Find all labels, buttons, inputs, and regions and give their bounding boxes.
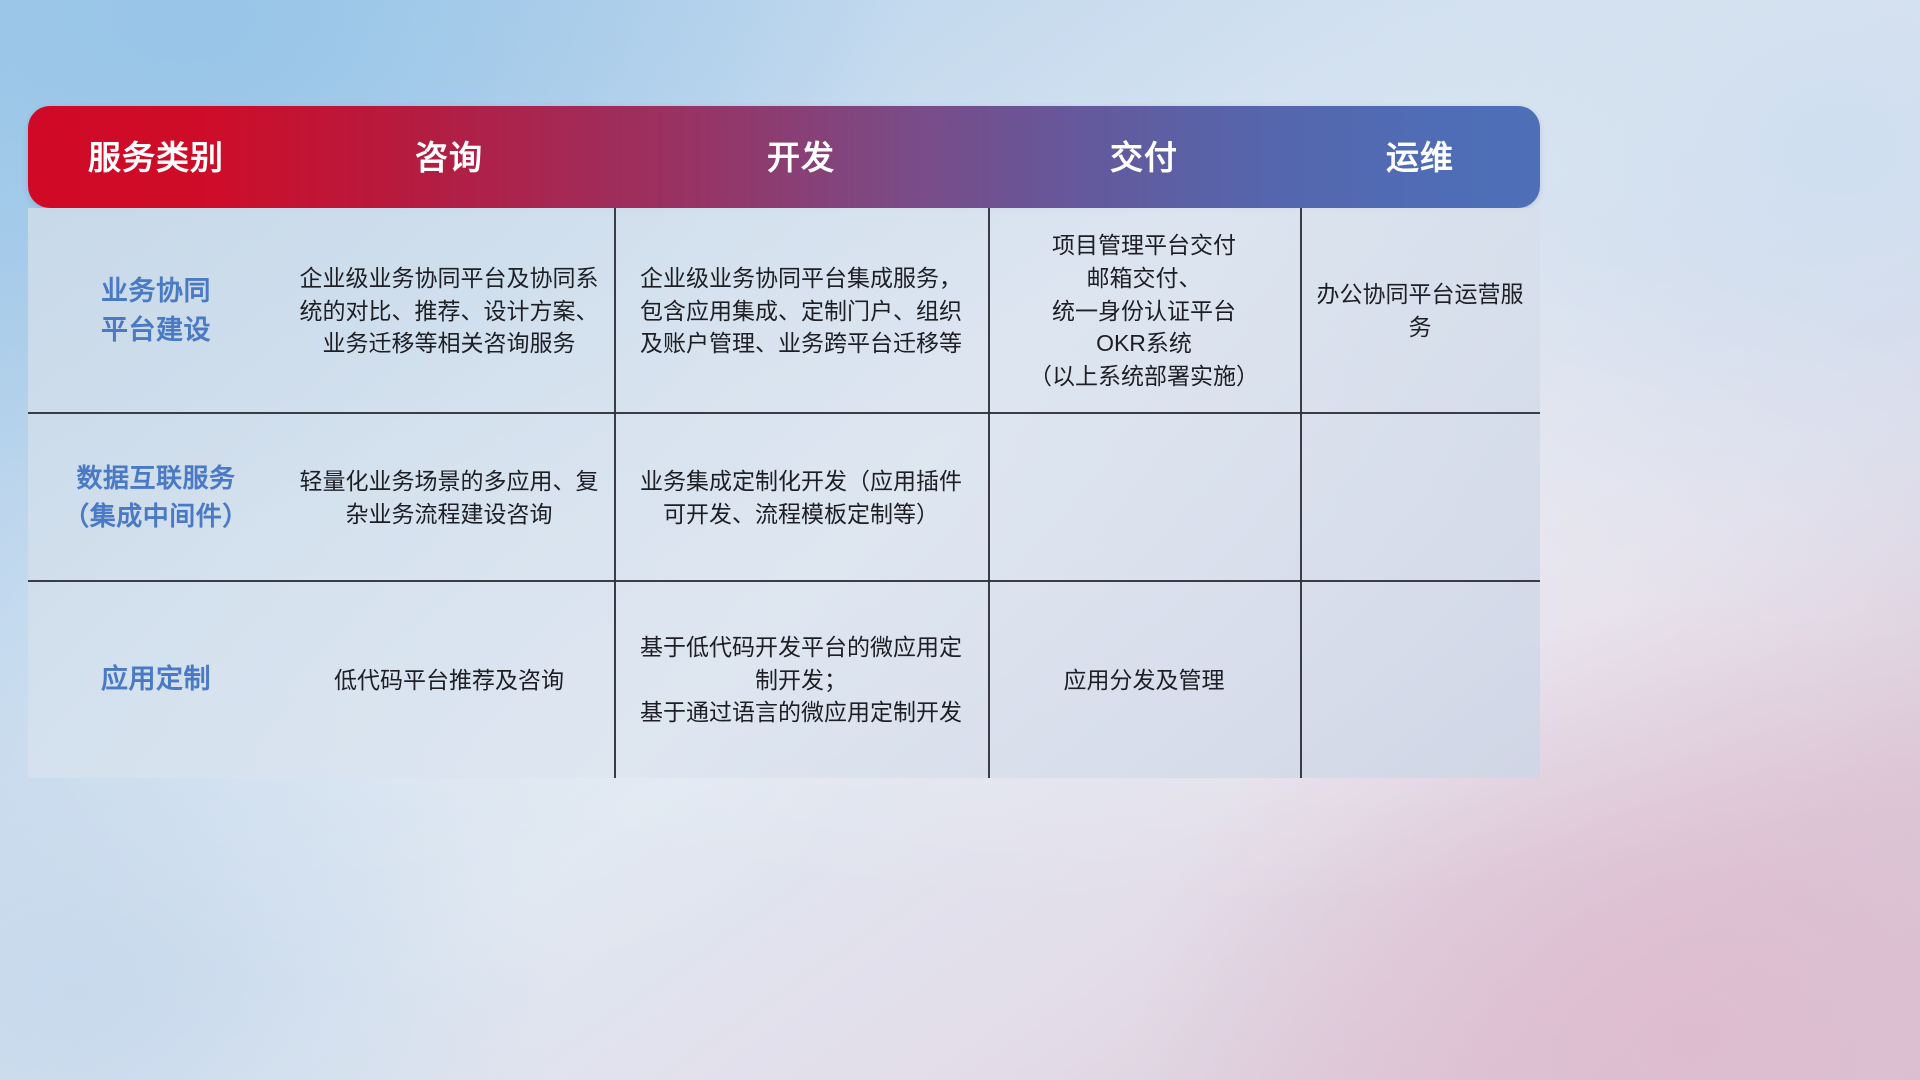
cell-delivery bbox=[988, 414, 1300, 582]
cell-operations bbox=[1300, 582, 1540, 778]
column-header-consulting: 咨询 bbox=[284, 141, 614, 174]
cell-operations: 办公协同平台运营服务 bbox=[1300, 208, 1540, 414]
row-category-label: 应用定制 bbox=[28, 582, 284, 778]
cell-consulting: 企业级业务协同平台及协同系 统的对比、推荐、设计方案、 业务迁移等相关咨询服务 bbox=[284, 208, 614, 414]
row-category-label: 数据互联服务 （集成中间件） bbox=[28, 414, 284, 582]
column-header-category: 服务类别 bbox=[28, 141, 284, 174]
table-row: 业务协同 平台建设 企业级业务协同平台及协同系 统的对比、推荐、设计方案、 业务… bbox=[28, 208, 1540, 414]
service-matrix-table: 服务类别 咨询 开发 交付 运维 业务协同 平台建设 企业级业务协同平台及协同系… bbox=[28, 106, 1540, 778]
cell-delivery: 应用分发及管理 bbox=[988, 582, 1300, 778]
cell-consulting: 轻量化业务场景的多应用、复 杂业务流程建设咨询 bbox=[284, 414, 614, 582]
cell-delivery: 项目管理平台交付 邮箱交付、 统一身份认证平台 OKR系统 （以上系统部署实施） bbox=[988, 208, 1300, 414]
column-header-delivery: 交付 bbox=[988, 141, 1300, 174]
column-header-operations: 运维 bbox=[1300, 141, 1540, 174]
cell-development: 企业级业务协同平台集成服务， 包含应用集成、定制门户、组织 及账户管理、业务跨平… bbox=[614, 208, 988, 414]
cell-consulting: 低代码平台推荐及咨询 bbox=[284, 582, 614, 778]
cell-operations bbox=[1300, 414, 1540, 582]
row-category-label: 业务协同 平台建设 bbox=[28, 208, 284, 414]
table-row: 应用定制 低代码平台推荐及咨询 基于低代码开发平台的微应用定 制开发； 基于通过… bbox=[28, 582, 1540, 778]
cell-development: 基于低代码开发平台的微应用定 制开发； 基于通过语言的微应用定制开发 bbox=[614, 582, 988, 778]
column-header-development: 开发 bbox=[614, 141, 988, 174]
cell-development: 业务集成定制化开发（应用插件 可开发、流程模板定制等） bbox=[614, 414, 988, 582]
table-header-row: 服务类别 咨询 开发 交付 运维 bbox=[28, 106, 1540, 208]
table-row: 数据互联服务 （集成中间件） 轻量化业务场景的多应用、复 杂业务流程建设咨询 业… bbox=[28, 414, 1540, 582]
table-body: 业务协同 平台建设 企业级业务协同平台及协同系 统的对比、推荐、设计方案、 业务… bbox=[28, 208, 1540, 778]
